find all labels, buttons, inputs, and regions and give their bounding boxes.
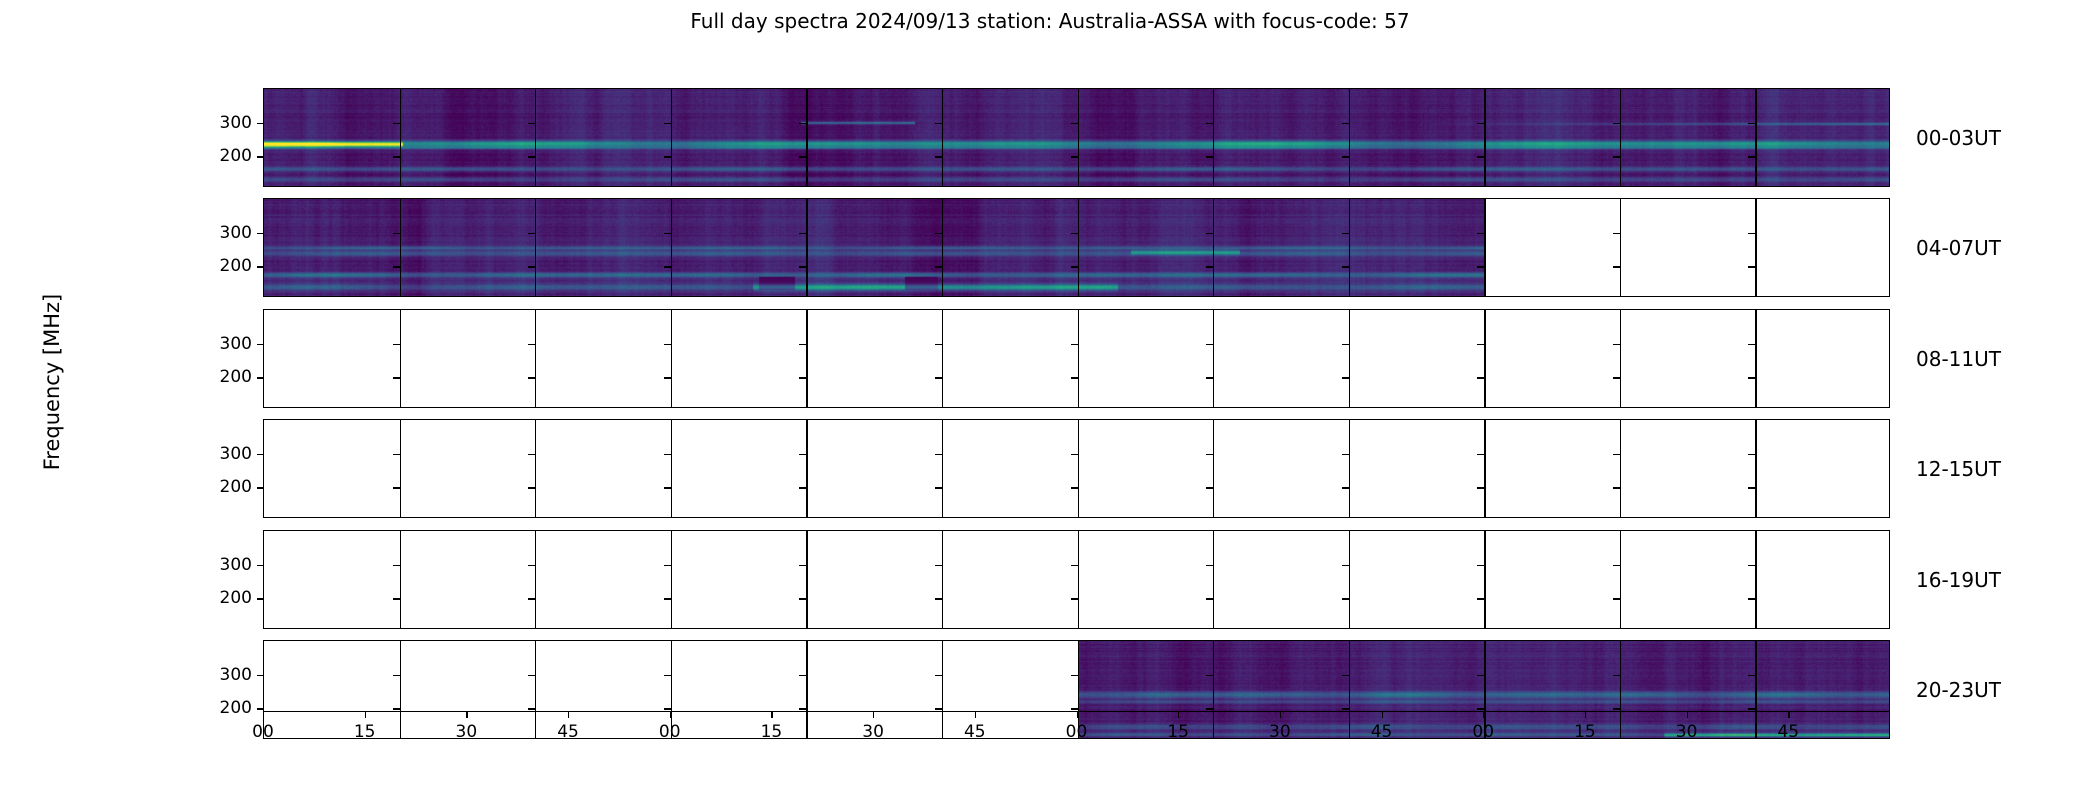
subpanel-divider [1620,420,1621,517]
x-tick-label: 30 [1269,722,1291,742]
y-tick-label: 200 [220,698,252,718]
y-axis-tick [257,565,264,566]
subpanel-divider [1620,641,1621,738]
y-axis-tick-inner [1342,708,1349,709]
y-axis-tick-inner [799,233,806,234]
y-axis-tick-inner [1477,598,1484,599]
y-axis-tick [257,344,264,345]
x-axis-tick [1687,711,1688,718]
y-axis-tick-inner [528,156,535,157]
y-axis-tick-inner [528,266,535,267]
y-axis-tick [257,156,264,157]
subpanel-divider [942,89,943,186]
y-axis-tick-inner [393,344,400,345]
subpanel-divider [942,310,943,407]
y-axis-tick-inner [1748,377,1755,378]
subpanel-divider [1620,199,1621,296]
x-tick-label: 45 [964,722,986,742]
x-axis-tick [568,711,569,718]
y-axis-tick [257,377,264,378]
subpanel-divider [1213,310,1214,407]
spectrogram-row: 00-03UT [263,88,1890,187]
y-axis-tick-inner [664,598,671,599]
subpanel-divider [400,310,401,407]
y-axis-tick-inner [393,598,400,599]
row-time-label: 20-23UT [1916,678,2001,702]
subpanel-divider [535,199,536,296]
y-axis-tick-inner [1477,487,1484,488]
y-axis-tick-inner [393,708,400,709]
y-axis-tick-inner [393,123,400,124]
spectrogram-canvas [264,89,1889,186]
y-axis-tick-inner [1477,344,1484,345]
subpanel-divider [942,420,943,517]
subpanel-divider [806,310,807,407]
y-axis-tick-inner [393,266,400,267]
x-axis-tick [771,711,772,718]
subpanel-divider [1620,310,1621,407]
x-tick-label: 45 [1777,722,1799,742]
y-axis-tick-inner [1206,156,1213,157]
subpanel-divider [1484,89,1485,186]
y-axis-tick-inner [1342,675,1349,676]
x-axis-tick [873,711,874,718]
y-axis-tick-inner [1613,487,1620,488]
x-axis-tick [466,711,467,718]
subpanel-divider [535,420,536,517]
y-axis-tick-inner [1477,233,1484,234]
y-axis-tick-inner [1071,123,1078,124]
y-axis-tick-inner [393,233,400,234]
y-axis-tick-inner [799,156,806,157]
y-axis-tick-inner [1071,266,1078,267]
row-plot-area [264,89,1889,186]
y-tick-label: 200 [220,367,252,387]
spectrogram-row: 16-19UT [263,530,1890,629]
y-axis-tick-inner [799,454,806,455]
y-tick-label: 300 [220,444,252,464]
y-axis-tick-inner [1342,565,1349,566]
y-tick-label: 300 [220,555,252,575]
y-axis-tick-inner [1206,565,1213,566]
y-axis-tick-inner [1613,233,1620,234]
subpanel-divider [400,199,401,296]
y-axis-tick-inner [1613,266,1620,267]
y-axis-tick-inner [1071,487,1078,488]
y-axis-tick-inner [1613,377,1620,378]
x-axis-tick [1788,711,1789,718]
y-axis-tick-inner [1748,565,1755,566]
y-axis-tick-inner [1206,675,1213,676]
row-plot-area [264,531,1889,628]
row-plot-area [264,199,1889,296]
y-axis-tick-inner [799,565,806,566]
y-axis-tick-inner [935,487,942,488]
x-tick-label: 15 [1574,722,1596,742]
subpanel-divider [1349,641,1350,738]
y-axis-tick-inner [1071,156,1078,157]
y-axis-tick-inner [1206,123,1213,124]
y-axis-tick-inner [1071,344,1078,345]
y-axis-tick-inner [664,565,671,566]
x-axis-tick [263,711,264,718]
y-axis-tick-inner [1748,487,1755,488]
y-axis-tick-inner [935,708,942,709]
subpanel-divider [535,641,536,738]
y-axis-tick-inner [1613,344,1620,345]
y-axis-tick-inner [1206,708,1213,709]
y-axis-tick-inner [1071,377,1078,378]
y-axis-tick-inner [1477,156,1484,157]
y-axis-tick-inner [1342,377,1349,378]
y-axis-tick-inner [664,377,671,378]
y-axis-tick-inner [1748,344,1755,345]
y-axis-tick-inner [1206,487,1213,488]
y-tick-label: 200 [220,146,252,166]
subpanel-divider [400,420,401,517]
y-tick-label: 200 [220,256,252,276]
y-axis-tick-inner [1748,233,1755,234]
subpanel-divider [1213,89,1214,186]
subpanel-divider [400,641,401,738]
y-axis-tick-inner [1613,708,1620,709]
subpanel-divider [535,310,536,407]
y-axis-tick-inner [1748,156,1755,157]
y-axis-tick-inner [1071,675,1078,676]
y-axis-tick-inner [528,344,535,345]
y-axis-tick-inner [1206,233,1213,234]
subpanel-divider [1620,89,1621,186]
y-axis-tick-inner [1748,598,1755,599]
subpanel-divider [1484,199,1485,296]
spectrogram-row: 12-15UT [263,419,1890,518]
subpanel-divider [535,531,536,628]
x-axis-tick [1483,711,1484,718]
y-axis-tick-inner [935,675,942,676]
y-axis-tick-inner [935,344,942,345]
subpanel-divider [1755,531,1756,628]
y-axis-tick-inner [1748,266,1755,267]
y-axis-tick-inner [1748,675,1755,676]
subpanel-divider [1755,199,1756,296]
subpanel-divider [1213,641,1214,738]
x-tick-label: 45 [557,722,579,742]
x-tick-label: 00 [252,722,274,742]
y-axis-tick [257,708,264,709]
y-axis-tick [257,487,264,488]
subpanel-divider [1755,420,1756,517]
y-axis-tick-inner [799,675,806,676]
y-axis-tick-inner [1206,344,1213,345]
y-axis-tick-inner [1477,123,1484,124]
y-axis-tick-inner [1613,565,1620,566]
y-tick-label: 300 [220,223,252,243]
spectrogram-image [264,89,1889,186]
subpanel-divider [1349,199,1350,296]
x-axis-tick [1178,711,1179,718]
y-axis-tick-inner [799,487,806,488]
y-axis-tick [257,454,264,455]
y-axis-tick-inner [1477,675,1484,676]
y-axis-tick-inner [1342,454,1349,455]
y-axis-tick-inner [1748,454,1755,455]
y-axis-tick-inner [1613,598,1620,599]
y-axis-tick-inner [799,123,806,124]
y-axis-tick-inner [1071,708,1078,709]
y-axis-tick-inner [799,266,806,267]
y-axis-tick-inner [935,266,942,267]
row-plot-area [264,420,1889,517]
y-axis-tick-inner [935,233,942,234]
y-axis-tick [257,266,264,267]
y-axis-tick-inner [528,708,535,709]
y-tick-label: 300 [220,113,252,133]
y-axis-tick-inner [528,487,535,488]
y-tick-label: 300 [220,334,252,354]
y-tick-label: 200 [220,477,252,497]
y-axis-tick-inner [1748,708,1755,709]
subpanel-divider [1755,310,1756,407]
x-tick-label: 30 [862,722,884,742]
y-axis-tick-inner [528,377,535,378]
y-axis-tick-inner [1342,598,1349,599]
y-axis-tick-inner [393,675,400,676]
subpanel-divider [942,199,943,296]
subpanel-divider [671,420,672,517]
y-axis-tick-inner [393,454,400,455]
y-axis-tick-inner [393,377,400,378]
subpanel-divider [535,89,536,186]
x-axis-tick [1585,711,1586,718]
subpanel-divider [806,641,807,738]
x-axis-tick [365,711,366,718]
y-axis-tick-inner [664,344,671,345]
spectrogram-image [264,199,1484,296]
subpanel-divider [671,199,672,296]
x-tick-label: 15 [1167,722,1189,742]
row-time-label: 08-11UT [1916,347,2001,371]
y-axis-tick-inner [664,156,671,157]
y-axis-tick-inner [664,487,671,488]
row-time-label: 12-15UT [1916,457,2001,481]
y-axis-tick-inner [935,565,942,566]
subpanel-divider [942,641,943,738]
y-tick-label: 200 [220,588,252,608]
y-axis-tick-inner [799,344,806,345]
y-axis-tick-inner [393,565,400,566]
subpanel-divider [806,531,807,628]
x-tick-label: 00 [1472,722,1494,742]
subpanel-divider [400,531,401,628]
y-tick-label: 300 [220,665,252,685]
subpanel-divider [1620,531,1621,628]
x-tick-label: 30 [1676,722,1698,742]
y-axis-tick-inner [528,233,535,234]
subpanel-divider [942,531,943,628]
y-axis-tick-inner [528,675,535,676]
y-axis-tick-inner [664,708,671,709]
subpanel-divider [1078,310,1079,407]
row-time-label: 04-07UT [1916,236,2001,260]
y-axis-tick-inner [1342,487,1349,488]
y-axis-tick-inner [935,454,942,455]
subpanel-divider [1078,420,1079,517]
subpanel-divider [1484,531,1485,628]
y-axis-tick [257,598,264,599]
y-axis-tick-inner [935,377,942,378]
y-axis-tick-inner [1477,708,1484,709]
x-axis-tick [670,711,671,718]
y-axis-tick-inner [1477,565,1484,566]
y-axis-tick-inner [528,123,535,124]
figure-canvas: Full day spectra 2024/09/13 station: Aus… [0,0,2100,800]
y-axis-tick [257,675,264,676]
subpanel-divider [1213,199,1214,296]
subpanel-divider [400,89,401,186]
x-tick-label: 45 [1371,722,1393,742]
y-axis-tick-inner [935,598,942,599]
y-axis-tick-inner [528,565,535,566]
y-axis-tick-inner [1342,156,1349,157]
subpanel-divider [671,310,672,407]
y-axis-tick-inner [664,123,671,124]
spectrogram-canvas [264,199,1484,296]
y-axis-tick-inner [528,454,535,455]
x-tick-label: 00 [1066,722,1088,742]
subpanel-divider [1484,420,1485,517]
y-axis-tick-inner [1613,675,1620,676]
y-axis-tick-inner [1477,266,1484,267]
y-axis-tick-inner [799,598,806,599]
y-axis-label: Frequency [MHz] [40,232,64,532]
x-tick-label: 15 [354,722,376,742]
y-axis-tick-inner [664,233,671,234]
subpanel-divider [1755,641,1756,738]
page-title: Full day spectra 2024/09/13 station: Aus… [0,9,2100,33]
row-time-label: 00-03UT [1916,126,2001,150]
y-axis-tick-inner [664,454,671,455]
subpanel-divider [1484,310,1485,407]
subpanel-divider [1349,310,1350,407]
y-axis-tick-inner [1206,377,1213,378]
y-axis-tick-inner [1071,565,1078,566]
subpanel-divider [1213,531,1214,628]
y-axis-tick-inner [1071,598,1078,599]
x-axis-tick [1077,711,1078,718]
subpanel-divider [806,420,807,517]
y-axis-tick-inner [664,675,671,676]
x-axis-tick [1382,711,1383,718]
y-axis-tick-inner [1342,233,1349,234]
y-axis-tick-inner [1613,454,1620,455]
y-axis-tick-inner [1206,266,1213,267]
subpanel-divider [1755,89,1756,186]
subpanel-divider [806,89,807,186]
y-axis-tick [257,123,264,124]
y-axis-tick-inner [664,266,671,267]
y-axis-tick-inner [1613,156,1620,157]
y-axis-tick-inner [1748,123,1755,124]
subpanel-divider [1078,531,1079,628]
y-axis-tick [257,233,264,234]
y-axis-tick-inner [935,123,942,124]
y-axis-tick-inner [1613,123,1620,124]
y-axis-tick-inner [393,156,400,157]
subpanel-divider [806,199,807,296]
y-axis-tick-inner [1206,454,1213,455]
row-plot-area [264,310,1889,407]
x-tick-label: 00 [659,722,681,742]
subpanel-divider [671,531,672,628]
y-axis-tick-inner [799,708,806,709]
subpanel-divider [1349,531,1350,628]
spectrogram-row: 08-11UT [263,309,1890,408]
x-tick-label: 30 [456,722,478,742]
subpanel-divider [1078,199,1079,296]
y-axis-tick-inner [1477,454,1484,455]
subpanel-divider [1213,420,1214,517]
y-axis-tick-inner [1206,598,1213,599]
subpanel-divider [1349,420,1350,517]
y-axis-tick-inner [393,487,400,488]
x-axis-tick [975,711,976,718]
y-axis-tick-inner [1342,123,1349,124]
y-axis-tick-inner [1071,454,1078,455]
y-axis-tick-inner [1342,266,1349,267]
y-axis-tick-inner [799,377,806,378]
subpanel-divider [1349,89,1350,186]
row-time-label: 16-19UT [1916,568,2001,592]
subpanel-divider [671,89,672,186]
y-axis-tick-inner [528,598,535,599]
y-axis-tick-inner [935,156,942,157]
y-axis-tick-inner [1342,344,1349,345]
x-axis-tick [1280,711,1281,718]
subpanel-divider [1078,89,1079,186]
y-axis-tick-inner [1071,233,1078,234]
y-axis-tick-inner [1477,377,1484,378]
x-tick-label: 15 [761,722,783,742]
spectrogram-row: 04-07UT [263,198,1890,297]
